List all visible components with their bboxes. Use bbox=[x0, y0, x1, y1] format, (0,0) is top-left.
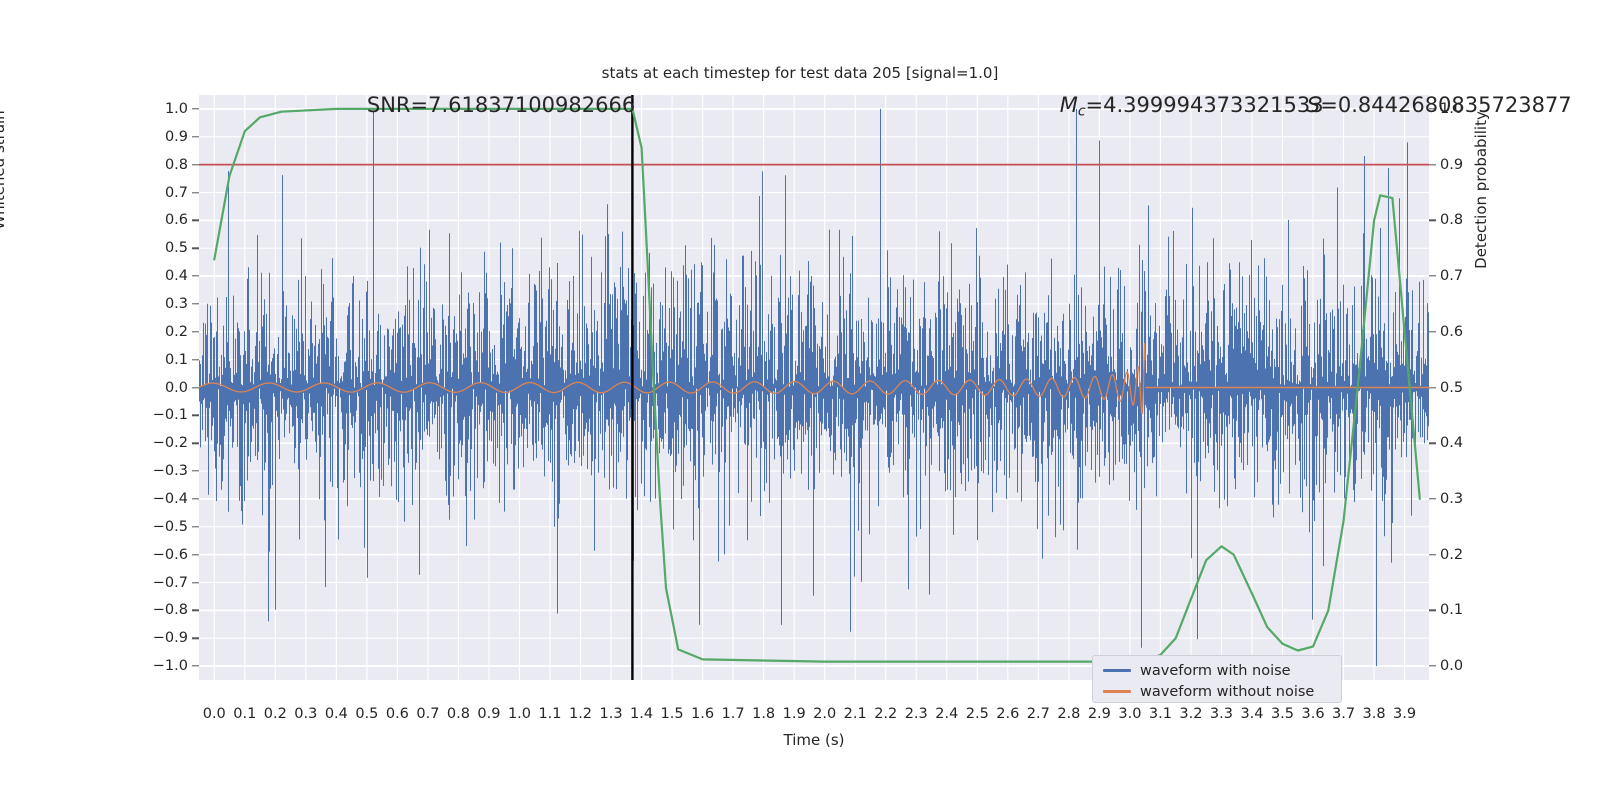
y-tick-left-17: −0.7 bbox=[128, 575, 188, 591]
y-tick-left-12: −0.2 bbox=[128, 435, 188, 451]
y-axis-label-left: Whitened strain bbox=[0, 60, 8, 280]
tick-dash-icon bbox=[192, 331, 199, 332]
tick-dash-icon bbox=[192, 498, 199, 499]
tick-dash-icon bbox=[1429, 610, 1436, 611]
y-tick-left-0: 1.0 bbox=[128, 101, 188, 117]
y-tick-left-label: 0.0 bbox=[165, 380, 188, 396]
y-tick-left-label: −0.5 bbox=[153, 519, 188, 535]
y-tick-right-label: 0.1 bbox=[1440, 602, 1463, 618]
annotation-chirp-mass: Mc=4.399994373321533 bbox=[1060, 93, 1324, 120]
legend-item-template[interactable]: waveform without noise bbox=[1093, 681, 1341, 702]
tick-dash-icon bbox=[192, 610, 199, 611]
y-tick-left-10: 0.0 bbox=[128, 380, 188, 396]
y-tick-right-label: 0.5 bbox=[1440, 380, 1463, 396]
y-tick-right-label: 0.0 bbox=[1440, 658, 1463, 674]
figure-canvas: stats at each timestep for test data 205… bbox=[0, 0, 1600, 800]
tick-dash-icon bbox=[192, 275, 199, 276]
annotation-score-equals: = bbox=[1320, 93, 1338, 117]
y-tick-left-14: −0.4 bbox=[128, 491, 188, 507]
y-tick-left-18: −0.8 bbox=[128, 602, 188, 618]
tick-dash-icon bbox=[192, 582, 199, 583]
y-tick-right-3: 0.7 bbox=[1440, 268, 1510, 284]
y-tick-left-label: −0.3 bbox=[153, 463, 188, 479]
y-tick-right-label: 0.8 bbox=[1440, 212, 1463, 228]
y-tick-right-4: 0.6 bbox=[1440, 324, 1510, 340]
annotation-score-symbol: S bbox=[1307, 93, 1320, 117]
annotation-chirp-mass-subscript: c bbox=[1078, 103, 1086, 119]
tick-dash-icon bbox=[192, 136, 199, 137]
y-tick-left-20: −1.0 bbox=[128, 658, 188, 674]
y-tick-left-11: −0.1 bbox=[128, 407, 188, 423]
tick-dash-icon bbox=[192, 554, 199, 555]
y-tick-left-8: 0.2 bbox=[128, 324, 188, 340]
y-tick-left-label: −0.4 bbox=[153, 491, 188, 507]
x-axis-label: Time (s) bbox=[199, 731, 1429, 749]
tick-dash-icon bbox=[192, 443, 199, 444]
annotation-score: S=0.8442680835723877 bbox=[1307, 93, 1572, 117]
y-tick-left-1: 0.9 bbox=[128, 129, 188, 145]
y-tick-left-label: 0.2 bbox=[165, 324, 188, 340]
y-tick-left-19: −0.9 bbox=[128, 630, 188, 646]
tick-dash-icon bbox=[1429, 498, 1436, 499]
legend-item-noise[interactable]: waveform with noise bbox=[1093, 660, 1341, 681]
y-tick-left-label: 0.5 bbox=[165, 240, 188, 256]
plot-canvas bbox=[199, 95, 1429, 680]
annotation-score-value: 0.8442680835723877 bbox=[1338, 93, 1572, 117]
legend[interactable]: waveform with noise waveform without noi… bbox=[1092, 655, 1342, 703]
y-tick-right-2: 0.8 bbox=[1440, 212, 1510, 228]
y-tick-left-label: 0.7 bbox=[165, 185, 188, 201]
tick-dash-icon bbox=[192, 108, 199, 109]
legend-label-noise: waveform with noise bbox=[1140, 663, 1291, 679]
y-tick-left-label: 0.1 bbox=[165, 352, 188, 368]
y-tick-left-3: 0.7 bbox=[128, 185, 188, 201]
tick-dash-icon bbox=[192, 164, 199, 165]
y-tick-right-8: 0.2 bbox=[1440, 547, 1510, 563]
annotation-chirp-mass-equals: = bbox=[1086, 93, 1104, 117]
x-tick-39: 3.9 bbox=[1375, 706, 1435, 722]
y-tick-right-7: 0.3 bbox=[1440, 491, 1510, 507]
y-tick-right-label: 0.3 bbox=[1440, 491, 1463, 507]
tick-dash-icon bbox=[1429, 220, 1436, 221]
legend-label-template: waveform without noise bbox=[1140, 684, 1314, 700]
y-tick-right-6: 0.4 bbox=[1440, 435, 1510, 451]
tick-dash-icon bbox=[192, 415, 199, 416]
y-tick-left-label: 1.0 bbox=[165, 101, 188, 117]
annotation-snr: SNR=7.61837100982666 bbox=[367, 93, 635, 117]
y-tick-left-6: 0.4 bbox=[128, 268, 188, 284]
page-title: stats at each timestep for test data 205… bbox=[0, 64, 1600, 82]
tick-dash-icon bbox=[1429, 164, 1436, 165]
y-tick-left-label: −0.1 bbox=[153, 407, 188, 423]
tick-dash-icon bbox=[192, 638, 199, 639]
y-tick-left-label: 0.8 bbox=[165, 157, 188, 173]
tick-dash-icon bbox=[1429, 387, 1436, 388]
tick-dash-icon bbox=[192, 387, 199, 388]
y-tick-right-label: 0.4 bbox=[1440, 435, 1463, 451]
y-tick-left-16: −0.6 bbox=[128, 547, 188, 563]
tick-dash-icon bbox=[192, 192, 199, 193]
y-tick-left-2: 0.8 bbox=[128, 157, 188, 173]
annotation-chirp-mass-symbol: M bbox=[1060, 93, 1078, 117]
y-tick-left-13: −0.3 bbox=[128, 463, 188, 479]
y-tick-right-10: 0.0 bbox=[1440, 658, 1510, 674]
tick-dash-icon bbox=[1429, 443, 1436, 444]
plot-area bbox=[199, 95, 1429, 680]
y-tick-left-5: 0.5 bbox=[128, 240, 188, 256]
tick-dash-icon bbox=[192, 665, 199, 666]
y-tick-left-label: 0.4 bbox=[165, 268, 188, 284]
y-tick-left-label: −0.9 bbox=[153, 630, 188, 646]
y-tick-left-9: 0.1 bbox=[128, 352, 188, 368]
tick-dash-icon bbox=[1429, 331, 1436, 332]
tick-dash-icon bbox=[1429, 665, 1436, 666]
y-tick-left-label: 0.6 bbox=[165, 212, 188, 228]
tick-dash-icon bbox=[1429, 275, 1436, 276]
y-tick-left-label: 0.3 bbox=[165, 296, 188, 312]
y-tick-right-9: 0.1 bbox=[1440, 602, 1510, 618]
y-tick-left-label: −0.7 bbox=[153, 575, 188, 591]
y-tick-left-label: −0.8 bbox=[153, 602, 188, 618]
annotation-chirp-mass-value: 4.399994373321533 bbox=[1103, 93, 1323, 117]
tick-dash-icon bbox=[192, 359, 199, 360]
tick-dash-icon bbox=[192, 248, 199, 249]
y-tick-left-label: −0.2 bbox=[153, 435, 188, 451]
tick-dash-icon bbox=[1429, 554, 1436, 555]
y-tick-left-7: 0.3 bbox=[128, 296, 188, 312]
tick-dash-icon bbox=[192, 303, 199, 304]
y-tick-left-4: 0.6 bbox=[128, 212, 188, 228]
y-tick-right-label: 0.9 bbox=[1440, 157, 1463, 173]
legend-swatch-noise bbox=[1103, 669, 1131, 671]
tick-dash-icon bbox=[192, 470, 199, 471]
y-tick-right-1: 0.9 bbox=[1440, 157, 1510, 173]
y-tick-left-label: −0.6 bbox=[153, 547, 188, 563]
y-tick-left-label: −1.0 bbox=[153, 658, 188, 674]
legend-swatch-template bbox=[1103, 690, 1131, 692]
y-tick-left-15: −0.5 bbox=[128, 519, 188, 535]
y-tick-right-label: 0.6 bbox=[1440, 324, 1463, 340]
tick-dash-icon bbox=[192, 526, 199, 527]
y-tick-left-label: 0.9 bbox=[165, 129, 188, 145]
y-tick-right-label: 0.7 bbox=[1440, 268, 1463, 284]
y-tick-right-label: 0.2 bbox=[1440, 547, 1463, 563]
y-tick-right-5: 0.5 bbox=[1440, 380, 1510, 396]
tick-dash-icon bbox=[192, 220, 199, 221]
